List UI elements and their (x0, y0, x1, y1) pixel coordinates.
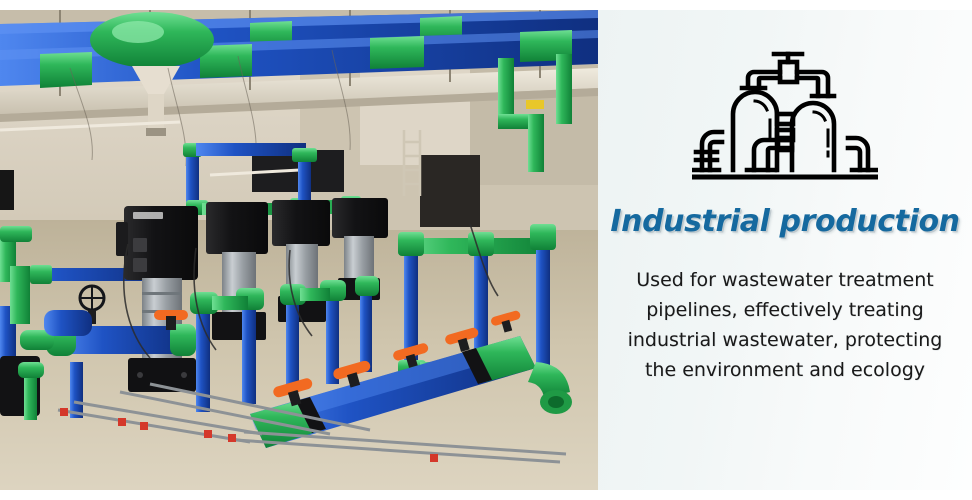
industrial-plant-icon (692, 48, 878, 180)
panel-description-line-3: industrial wastewater, protecting (620, 325, 950, 355)
panel-title: Industrial production (610, 204, 959, 239)
photo-illustration (0, 10, 598, 490)
product-feature-banner: Industrial production Used for wastewate… (0, 0, 972, 500)
industrial-piping-photo (0, 10, 598, 490)
info-panel: Industrial production Used for wastewate… (598, 10, 972, 490)
panel-description: Used for wastewater treatment pipelines,… (620, 265, 950, 385)
panel-description-line-2: pipelines, effectively treating (620, 295, 950, 325)
industrial-plant-icon-svg (692, 48, 878, 180)
panel-description-line-1: Used for wastewater treatment (620, 265, 950, 295)
panel-description-line-4: the environment and ecology (620, 355, 950, 385)
